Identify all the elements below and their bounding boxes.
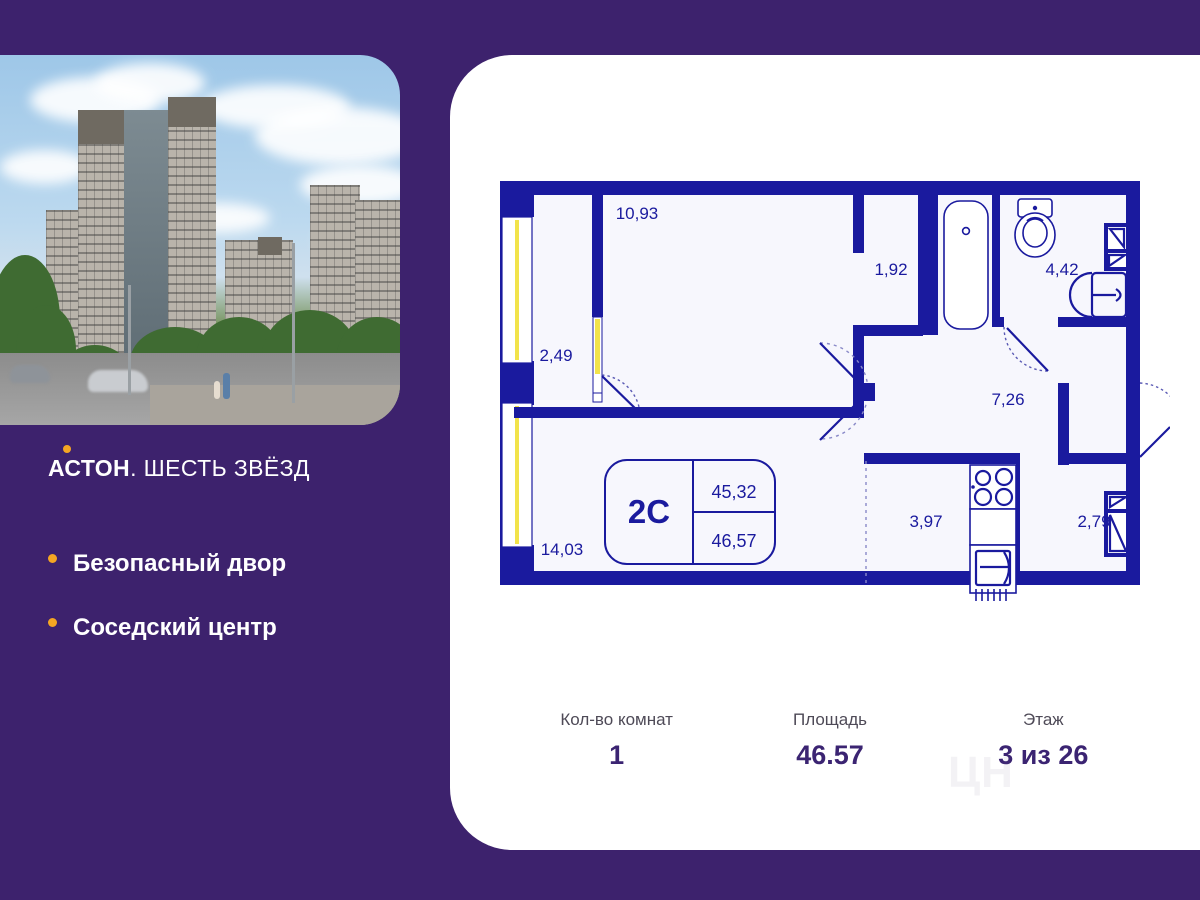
orange-dot-icon [63, 445, 71, 453]
stat-value-floor: 3 из 26 [937, 740, 1150, 771]
feature-list: Безопасный двор Соседский центр [48, 550, 438, 678]
feature-label: Безопасный двор [73, 550, 286, 578]
room-label-balcony: 2,49 [539, 346, 572, 365]
stat-rooms: Кол-во комнат 1 [510, 710, 723, 771]
room-label-living: 10,93 [616, 204, 659, 223]
room-label-bathroom: 4,42 [1045, 260, 1078, 279]
badge-type: 2С [628, 493, 670, 530]
badge-area-total: 46,57 [711, 531, 756, 551]
brand-title: АСТОН. ШЕСТЬ ЗВЁЗД [48, 455, 428, 482]
room-label-storage: 2,79 [1077, 512, 1110, 531]
stat-label-floor: Этаж [937, 710, 1150, 730]
bullet-dot-icon [48, 554, 57, 563]
brand-name-dot: . [130, 455, 137, 481]
feature-item-1: Соседский центр [48, 614, 438, 642]
hero-image [0, 55, 400, 425]
room-label-hallway: 7,26 [991, 390, 1024, 409]
bullet-dot-icon [48, 618, 57, 627]
stat-label-rooms: Кол-во комнат [510, 710, 723, 730]
badge-area-living: 45,32 [711, 482, 756, 502]
left-panel: АСТОН. ШЕСТЬ ЗВЁЗД Безопасный двор Сосед… [0, 0, 450, 900]
brand-name-bold: АСТОН [48, 455, 130, 481]
floorplan-container[interactable]: .w { fill:#1a1a9e; } .rm { fill:#f7f7fd;… [480, 165, 1170, 615]
stat-area: Площадь 46.57 [723, 710, 936, 771]
floorplan-card: .w { fill:#1a1a9e; } .rm { fill:#f7f7fd;… [450, 55, 1200, 850]
plan-type-badge: 2С 45,32 46,57 [605, 460, 775, 564]
floorplan-svg[interactable]: .w { fill:#1a1a9e; } .rm { fill:#f7f7fd;… [480, 165, 1170, 615]
stat-value-area: 46.57 [723, 740, 936, 771]
feature-item-0: Безопасный двор [48, 550, 438, 578]
room-label-main: 14,03 [541, 540, 584, 559]
stat-floor: Этаж 3 из 26 [937, 710, 1150, 771]
feature-label: Соседский центр [73, 614, 277, 642]
room-label-wardrobe: 1,92 [874, 260, 907, 279]
brand-block: АСТОН. ШЕСТЬ ЗВЁЗД [48, 455, 428, 482]
room-label-kitchen: 3,97 [909, 512, 942, 531]
brand-name-light: ШЕСТЬ ЗВЁЗД [137, 455, 310, 481]
stat-value-rooms: 1 [510, 740, 723, 771]
stats-row: Кол-во комнат 1 Площадь 46.57 Этаж 3 из … [510, 710, 1150, 771]
stat-label-area: Площадь [723, 710, 936, 730]
